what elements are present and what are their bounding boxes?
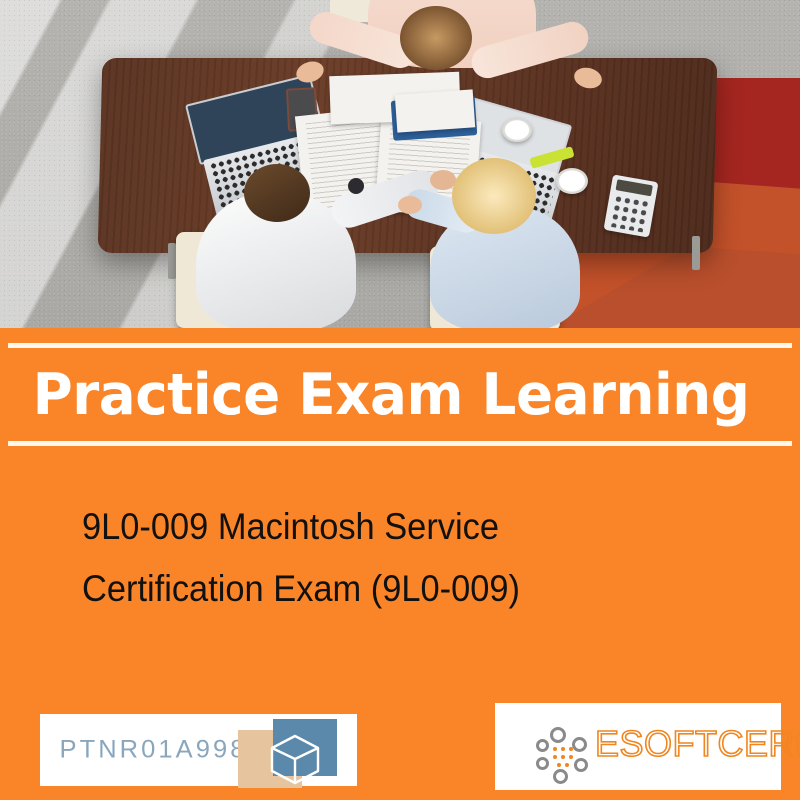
promo-card: Practice Exam Learning 9L0-009 Macintosh…	[0, 0, 800, 800]
ring	[536, 757, 549, 770]
cube-icon	[265, 731, 325, 787]
title-rule-bottom	[8, 441, 792, 446]
head	[452, 158, 536, 234]
dot	[565, 763, 569, 767]
head	[244, 164, 310, 222]
cup-left	[502, 118, 532, 142]
clipboard-sheet	[395, 89, 475, 132]
ring	[550, 727, 566, 743]
exam-name-line-1: 9L0-009 Macintosh Service	[82, 496, 677, 558]
ring	[553, 769, 568, 784]
dot	[561, 747, 565, 751]
dot	[569, 747, 573, 751]
esoftcert-wordmark: ESOFTCERt	[595, 723, 800, 765]
head	[400, 6, 472, 70]
meeting-photo	[0, 0, 800, 328]
title-rule-top	[8, 343, 792, 348]
hand	[398, 196, 422, 214]
esoftcert-logo: ESOFTCERt	[495, 703, 781, 790]
dot	[557, 763, 561, 767]
dot	[553, 755, 557, 759]
page-title: Practice Exam Learning	[0, 352, 768, 438]
exam-name: 9L0-009 Macintosh Service Certification …	[82, 496, 677, 620]
calculator	[603, 174, 658, 237]
ring	[572, 737, 587, 752]
ring	[574, 758, 588, 772]
table-leg-right	[692, 236, 700, 270]
wristwatch	[348, 178, 364, 194]
dot	[561, 755, 565, 759]
exam-name-line-2: Certification Exam (9L0-009)	[82, 558, 677, 620]
cup-right	[556, 168, 588, 194]
dot	[553, 747, 557, 751]
partner-code-logo: PTNR01A998WXY	[40, 714, 357, 786]
dot	[569, 755, 573, 759]
dot-cluster-icon	[536, 725, 598, 777]
ring	[536, 739, 549, 752]
table-leg-left	[168, 243, 176, 279]
